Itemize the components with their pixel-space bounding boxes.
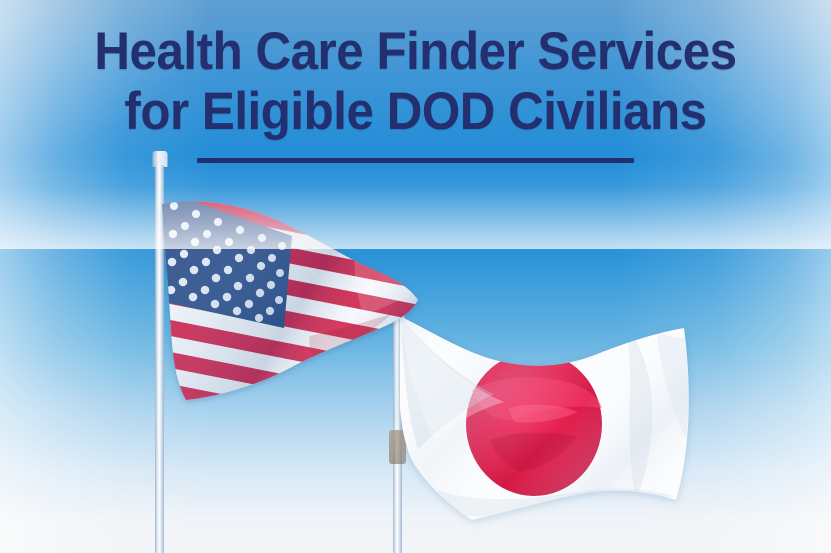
us-flag-body bbox=[160, 196, 425, 414]
page-title-line-1: Health Care Finder Services bbox=[29, 22, 802, 82]
united-states-flag bbox=[160, 196, 425, 414]
health-care-finder-banner: Health Care Finder Services for Eligible… bbox=[0, 0, 831, 553]
japan-flag bbox=[398, 312, 693, 527]
japan-flag-body bbox=[398, 312, 693, 527]
title-divider bbox=[197, 158, 634, 163]
page-title-line-2: for Eligible DOD Civilians bbox=[29, 82, 802, 142]
banner-heading: Health Care Finder Services for Eligible… bbox=[0, 22, 831, 163]
